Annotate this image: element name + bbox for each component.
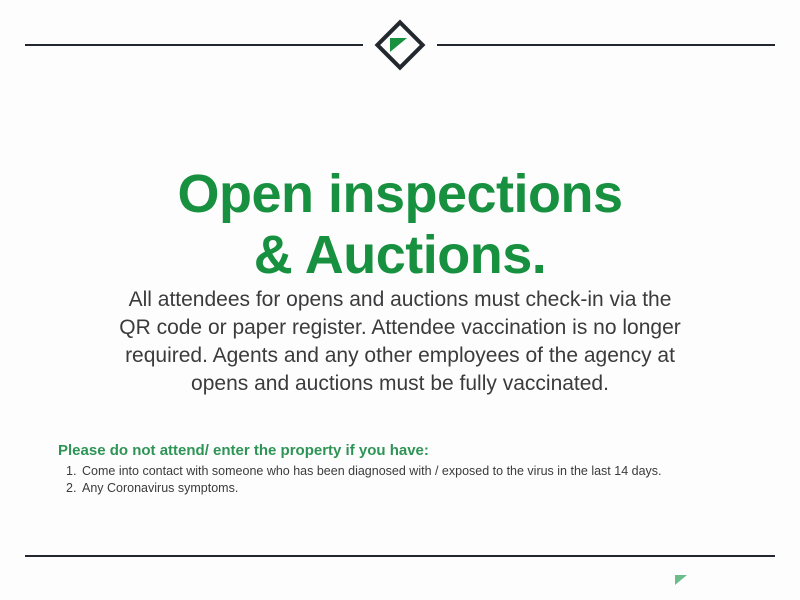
page-title-line-1: Open inspections [0, 164, 800, 224]
body-line-2: QR code or paper register. Attendee vacc… [70, 314, 730, 342]
footer-divider [25, 555, 775, 557]
body-line-4: opens and auctions must be fully vaccina… [70, 370, 730, 398]
warning-list: Come into contact with someone who has b… [58, 463, 758, 496]
header-rule-right [437, 44, 775, 46]
list-item: Any Coronavirus symptoms. [58, 480, 758, 497]
corner-flag-icon [675, 575, 687, 585]
warning-block: Please do not attend/ enter the property… [58, 442, 758, 496]
diamond-flag-logo [375, 20, 425, 70]
slide-canvas: Open inspections & Auctions. All attende… [0, 0, 800, 600]
green-flag-icon [390, 38, 407, 52]
body-line-3: required. Agents and any other employees… [70, 342, 730, 370]
page-title-line-2: & Auctions. [0, 225, 800, 285]
list-item: Come into contact with someone who has b… [58, 463, 758, 480]
header-rule-left [25, 44, 363, 46]
page-title: Open inspections & Auctions. [0, 164, 800, 285]
warning-heading: Please do not attend/ enter the property… [58, 442, 758, 460]
body-paragraph: All attendees for opens and auctions mus… [70, 286, 730, 398]
body-line-1: All attendees for opens and auctions mus… [70, 286, 730, 314]
